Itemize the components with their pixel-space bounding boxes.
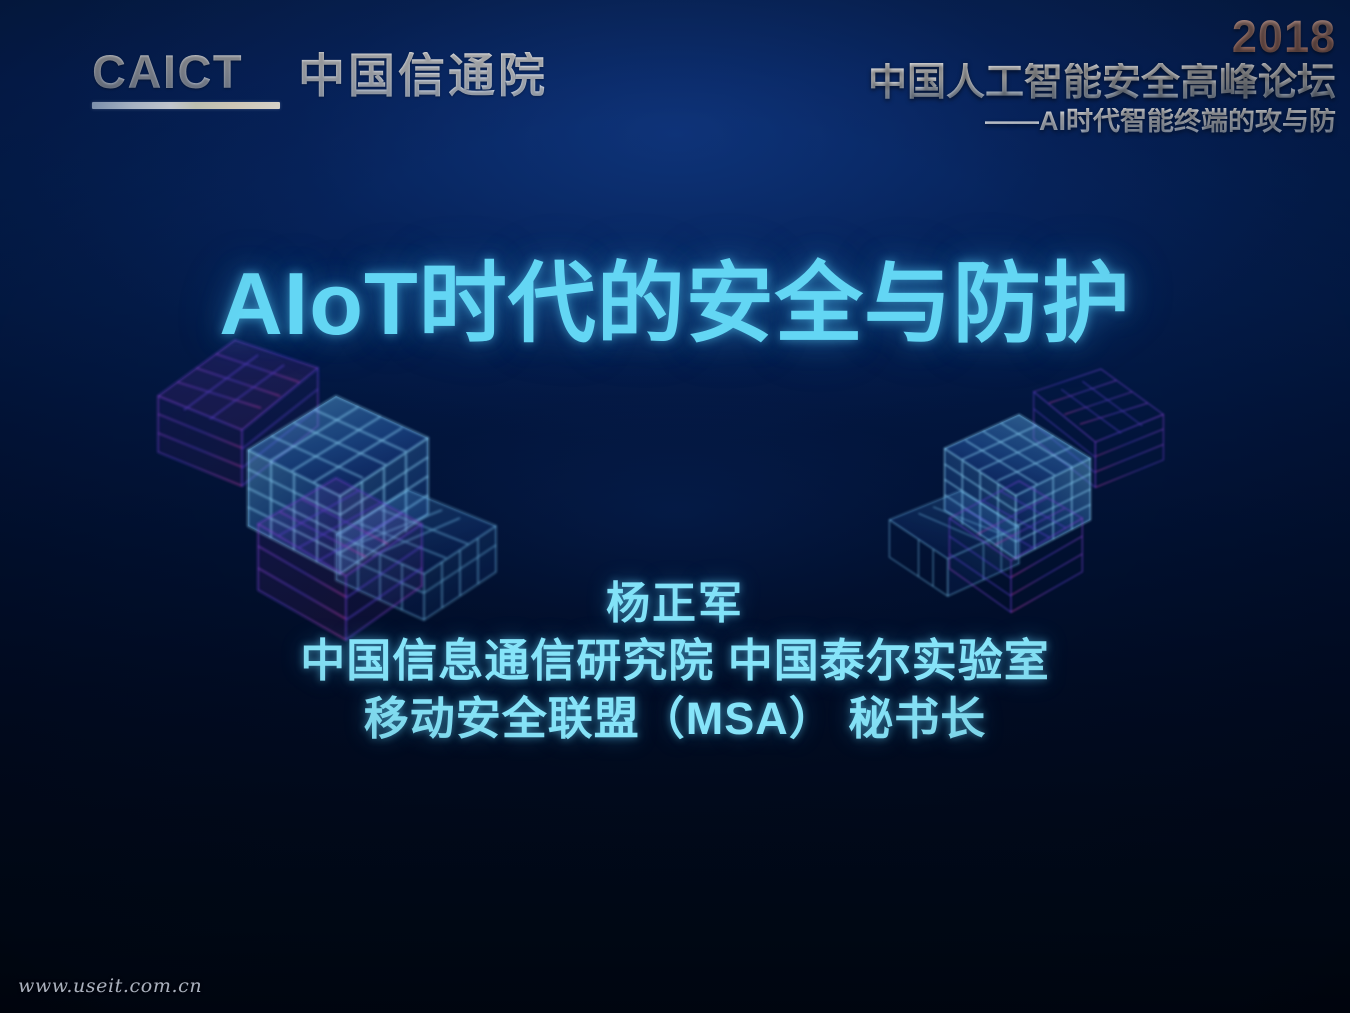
logo-underline-rule: [92, 102, 280, 109]
event-subtitle: ——AI时代智能终端的攻与防: [868, 108, 1336, 135]
slide-main-title: AIoT时代的安全与防护: [0, 258, 1350, 350]
presenter-organization: 中国信息通信研究院 中国泰尔实验室: [0, 634, 1350, 688]
caict-logo: CAICT 中国信通院: [92, 48, 548, 109]
presenter-role: 移动安全联盟（MSA） 秘书长: [0, 692, 1350, 746]
event-branding: 2018 中国人工智能安全高峰论坛 ——AI时代智能终端的攻与防: [868, 14, 1336, 135]
logo-acronym: CAICT: [92, 48, 280, 95]
event-year: 2018: [868, 14, 1336, 59]
event-title: 中国人工智能安全高峰论坛: [868, 63, 1336, 102]
background-vignette: [0, 0, 1350, 1013]
logo-mark: CAICT: [92, 48, 280, 109]
presenter-block: 杨正军 中国信息通信研究院 中国泰尔实验室 移动安全联盟（MSA） 秘书长: [0, 578, 1350, 746]
site-watermark: www.useit.com.cn: [18, 975, 202, 997]
logo-chinese-name: 中国信通院: [298, 52, 548, 109]
presenter-name: 杨正军: [0, 578, 1350, 630]
presentation-slide: CAICT 中国信通院 2018 中国人工智能安全高峰论坛 ——AI时代智能终端…: [0, 0, 1350, 1013]
